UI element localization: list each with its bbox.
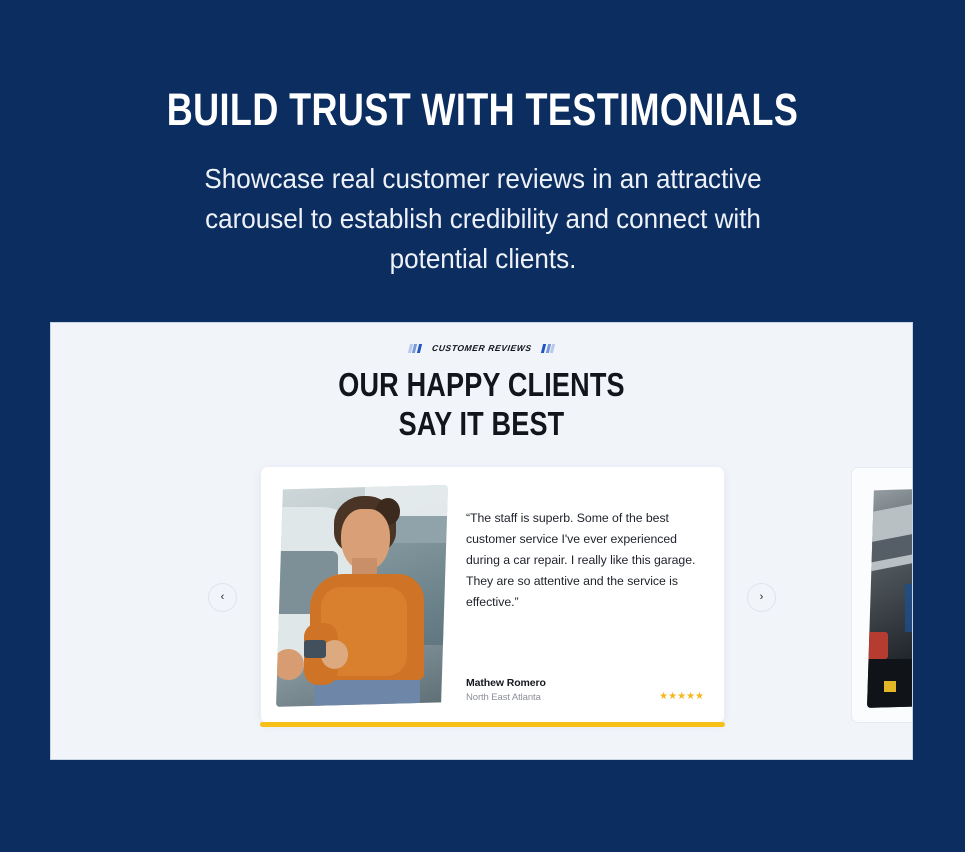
testimonial-photo bbox=[867, 486, 913, 708]
rating-stars-icon: ★★★★★ bbox=[659, 692, 704, 702]
section-eyebrow: CUSTOMER REVIEWS bbox=[51, 343, 912, 353]
hero-section: BUILD TRUST WITH TESTIMONIALS Showcase r… bbox=[0, 0, 965, 279]
testimonial-author-name: Mathew Romero bbox=[466, 677, 704, 689]
carousel-prev-button[interactable]: ‹ bbox=[208, 583, 237, 612]
chevron-right-icon: › bbox=[760, 592, 764, 603]
chevron-left-icon: ‹ bbox=[221, 592, 225, 603]
speed-bars-left-icon bbox=[409, 344, 421, 353]
eyebrow-label: CUSTOMER REVIEWS bbox=[431, 343, 532, 353]
testimonial-author-location: North East Atlanta bbox=[466, 692, 541, 703]
card-accent-bar bbox=[260, 722, 725, 727]
section-heading: OUR HAPPY CLIENTS SAY IT BEST bbox=[128, 366, 834, 444]
testimonial-photo bbox=[276, 485, 448, 707]
page-subtitle: Showcase real customer reviews in an att… bbox=[166, 159, 798, 278]
page-title: BUILD TRUST WITH TESTIMONIALS bbox=[97, 86, 869, 133]
testimonial-meta: Mathew Romero North East Atlanta ★★★★★ bbox=[466, 677, 704, 707]
speed-bars-right-icon bbox=[542, 344, 554, 353]
testimonial-card[interactable]: “The staff is superb. Some of the best c… bbox=[261, 467, 724, 723]
carousel-next-button[interactable]: › bbox=[747, 583, 776, 612]
testimonial-card[interactable]: ★★★★★ bbox=[851, 467, 913, 723]
testimonial-preview-panel: CUSTOMER REVIEWS OUR HAPPY CLIENTS SAY I… bbox=[50, 322, 913, 760]
testimonial-quote: “The staff is superb. Some of the best c… bbox=[466, 508, 704, 614]
testimonial-carousel: ‹ › “The st bbox=[51, 467, 912, 747]
section-heading-line2: SAY IT BEST bbox=[128, 405, 834, 444]
section-heading-line1: OUR HAPPY CLIENTS bbox=[128, 366, 834, 405]
